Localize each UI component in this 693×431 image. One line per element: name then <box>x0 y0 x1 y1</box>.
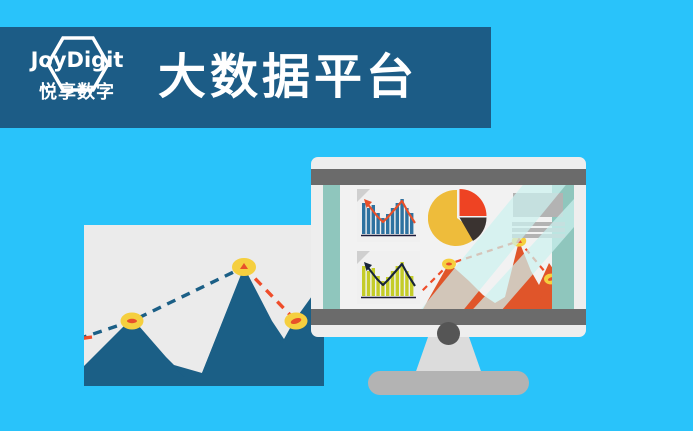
poster-canvas: JoyDigit 悦享数字 大数据平台 <box>0 0 693 431</box>
header-banner: JoyDigit 悦享数字 大数据平台 <box>0 27 491 128</box>
brand-logo: JoyDigit 悦享数字 <box>18 32 136 124</box>
dashboard-card-bar-olive[interactable] <box>357 251 420 304</box>
dashboard-trend-marker <box>544 274 558 285</box>
logo-wordmark: JoyDigit <box>31 50 124 71</box>
content-placeholder <box>512 193 567 238</box>
a11y-title-mirror: 大数据平台 <box>0 0 1 1</box>
monitor-screen <box>323 185 574 309</box>
pie-slice-red <box>460 189 487 216</box>
mountain-shape-main <box>84 268 317 386</box>
trend-marker <box>121 313 144 330</box>
page-title: 大数据平台 <box>158 54 418 102</box>
dashboard-card-bar-blue[interactable] <box>357 189 420 242</box>
bar-line-chart-blue <box>357 189 420 242</box>
left-illustration-panel <box>84 225 317 386</box>
text-line <box>512 222 565 226</box>
text-line <box>512 228 565 232</box>
mountain-overflow <box>316 330 324 386</box>
monitor-top-bezel <box>311 169 586 185</box>
monitor-stand-base <box>368 371 529 395</box>
left-mountain-chart <box>84 225 317 386</box>
image-placeholder <box>513 193 563 217</box>
trend-marker <box>232 258 256 276</box>
trend-line-red-tail <box>84 337 92 339</box>
text-line <box>512 234 565 238</box>
dashboard-trend-marker <box>442 259 456 270</box>
dashboard-pie-chart[interactable] <box>428 187 490 249</box>
bar-line-chart-olive <box>357 251 420 304</box>
power-button-icon[interactable] <box>437 322 460 345</box>
logo-subtitle: 悦享数字 <box>39 83 115 101</box>
trend-marker <box>285 313 308 330</box>
desktop-monitor <box>311 157 586 337</box>
